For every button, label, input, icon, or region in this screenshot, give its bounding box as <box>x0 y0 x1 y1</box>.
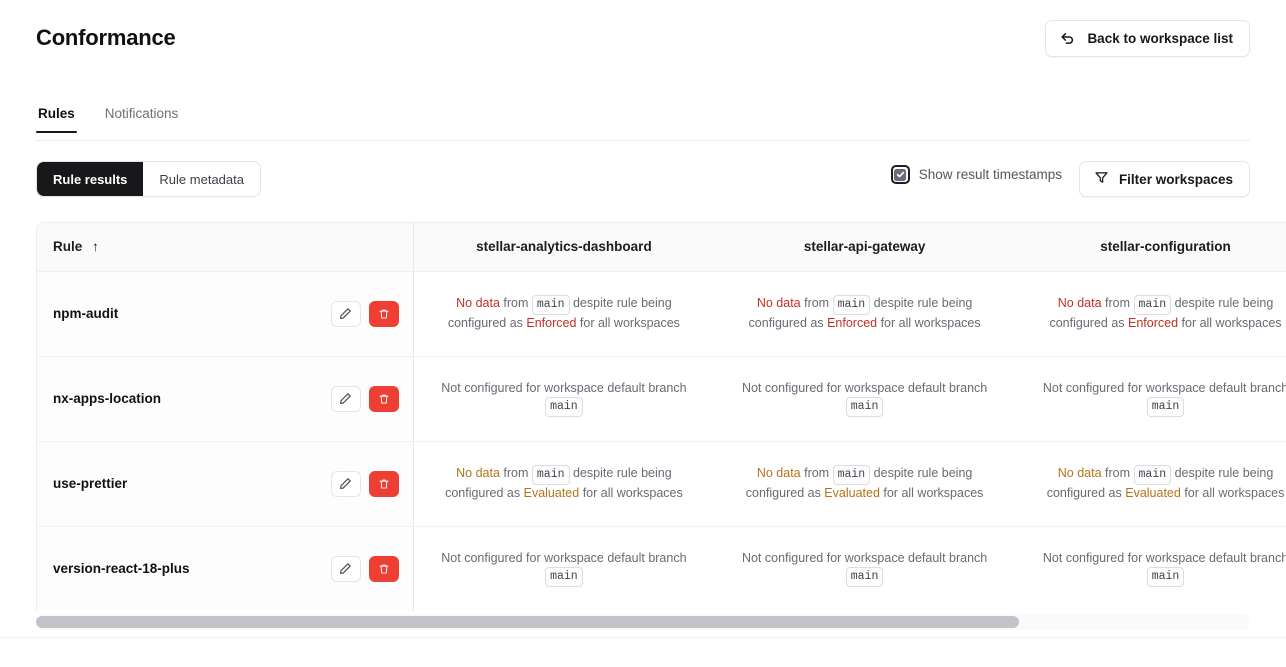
table-toolbar: Rule results Rule metadata Show result t… <box>36 161 1250 197</box>
rule-name: npm-audit <box>53 306 118 321</box>
edit-rule-button[interactable] <box>331 471 361 497</box>
table-row: use-prettierNo data from main despite ru… <box>37 441 1286 526</box>
column-header-workspace-1[interactable]: stellar-analytics-dashboard <box>413 223 714 271</box>
checkbox-check-icon <box>894 169 906 181</box>
horizontal-scrollbar-track[interactable] <box>36 614 1250 630</box>
back-button-label: Back to workspace list <box>1087 31 1233 46</box>
tab-rules[interactable]: Rules <box>36 106 77 132</box>
status-mode: Enforced <box>827 316 877 330</box>
rule-actions <box>331 301 399 327</box>
status-mode: Enforced <box>1128 316 1178 330</box>
status-mode: Enforced <box>526 316 576 330</box>
rule-actions <box>331 471 399 497</box>
status-text: for all workspaces <box>1178 316 1282 330</box>
segment-rule-metadata[interactable]: Rule metadata <box>143 162 260 196</box>
filter-workspaces-button[interactable]: Filter workspaces <box>1079 161 1250 197</box>
table-row: version-react-18-plusNot configured for … <box>37 526 1286 611</box>
status-lead: No data <box>757 296 801 310</box>
sort-ascending-icon: ↑ <box>92 239 99 254</box>
status-lead: No data <box>456 466 500 480</box>
branch-chip: main <box>1134 295 1172 315</box>
rules-table: Rule ↑ stellar-analytics-dashboard stell… <box>37 223 1286 611</box>
page-header: Conformance Back to workspace list <box>0 0 1286 78</box>
tab-bar: Rules Notifications <box>36 106 1250 141</box>
status-mode: Evaluated <box>1125 486 1181 500</box>
status-lead: No data <box>1058 466 1102 480</box>
rule-cell: npm-audit <box>37 271 413 356</box>
branch-chip: main <box>545 397 583 417</box>
table-header: Rule ↑ stellar-analytics-dashboard stell… <box>37 223 1286 271</box>
status-lead: No data <box>757 466 801 480</box>
rule-name: version-react-18-plus <box>53 561 190 576</box>
delete-rule-button[interactable] <box>369 301 399 327</box>
edit-rule-button[interactable] <box>331 301 361 327</box>
table-body: npm-auditNo data from main despite rule … <box>37 271 1286 611</box>
status-text: from <box>500 466 532 480</box>
result-cell: Not configured for workspace default bra… <box>1015 526 1286 611</box>
conformance-page: Conformance Back to workspace list Rules… <box>0 0 1286 667</box>
status-text: Not configured for workspace default bra… <box>441 381 686 395</box>
filter-workspaces-label: Filter workspaces <box>1119 172 1233 187</box>
show-result-timestamps-toggle[interactable]: Show result timestamps <box>891 165 1062 184</box>
branch-chip: main <box>1134 465 1172 485</box>
column-header-workspace-3[interactable]: stellar-configuration <box>1015 223 1286 271</box>
branch-chip: main <box>833 295 871 315</box>
status-text: Not configured for workspace default bra… <box>1043 381 1286 395</box>
result-cell: No data from main despite rule being con… <box>714 271 1015 356</box>
segment-rule-results[interactable]: Rule results <box>37 162 143 196</box>
result-cell: Not configured for workspace default bra… <box>413 356 714 441</box>
result-cell: Not configured for workspace default bra… <box>714 356 1015 441</box>
rule-name: use-prettier <box>53 476 127 491</box>
status-mode: Evaluated <box>524 486 580 500</box>
rule-actions <box>331 556 399 582</box>
show-timestamps-checkbox[interactable] <box>891 165 910 184</box>
branch-chip: main <box>1147 397 1185 417</box>
status-text: for all workspaces <box>576 316 680 330</box>
column-header-workspace-2[interactable]: stellar-api-gateway <box>714 223 1015 271</box>
horizontal-scrollbar-thumb[interactable] <box>36 616 1019 628</box>
rule-cell: nx-apps-location <box>37 356 413 441</box>
rule-name: nx-apps-location <box>53 391 161 406</box>
table-header-row: Rule ↑ stellar-analytics-dashboard stell… <box>37 223 1286 271</box>
result-cell: No data from main despite rule being con… <box>413 441 714 526</box>
delete-rule-button[interactable] <box>369 471 399 497</box>
funnel-icon <box>1094 170 1109 188</box>
status-text: Not configured for workspace default bra… <box>742 551 987 565</box>
branch-chip: main <box>846 567 884 587</box>
result-cell: No data from main despite rule being con… <box>1015 271 1286 356</box>
view-mode-segmented-control: Rule results Rule metadata <box>36 161 261 197</box>
back-to-workspace-list-button[interactable]: Back to workspace list <box>1045 20 1250 57</box>
status-text: from <box>1102 466 1134 480</box>
tab-notifications[interactable]: Notifications <box>103 106 181 132</box>
status-text: for all workspaces <box>877 316 981 330</box>
result-cell: Not configured for workspace default bra… <box>714 526 1015 611</box>
edit-rule-button[interactable] <box>331 556 361 582</box>
status-text: from <box>500 296 532 310</box>
branch-chip: main <box>532 295 570 315</box>
bottom-divider <box>0 637 1286 638</box>
branch-chip: main <box>833 465 871 485</box>
result-cell: Not configured for workspace default bra… <box>1015 356 1286 441</box>
column-header-rule[interactable]: Rule ↑ <box>37 223 413 271</box>
rule-actions <box>331 386 399 412</box>
result-cell: No data from main despite rule being con… <box>714 441 1015 526</box>
result-cell: No data from main despite rule being con… <box>413 271 714 356</box>
branch-chip: main <box>846 397 884 417</box>
status-text: Not configured for workspace default bra… <box>742 381 987 395</box>
rules-table-container: Rule ↑ stellar-analytics-dashboard stell… <box>36 222 1286 611</box>
edit-rule-button[interactable] <box>331 386 361 412</box>
table-row: nx-apps-locationNot configured for works… <box>37 356 1286 441</box>
status-text: for all workspaces <box>1181 486 1285 500</box>
status-text: for all workspaces <box>579 486 683 500</box>
status-lead: No data <box>456 296 500 310</box>
status-text: from <box>801 296 833 310</box>
branch-chip: main <box>532 465 570 485</box>
page-title: Conformance <box>36 25 176 51</box>
rule-cell: use-prettier <box>37 441 413 526</box>
status-lead: No data <box>1058 296 1102 310</box>
status-text: from <box>801 466 833 480</box>
branch-chip: main <box>545 567 583 587</box>
status-text: for all workspaces <box>880 486 984 500</box>
status-text: from <box>1102 296 1134 310</box>
rule-cell: version-react-18-plus <box>37 526 413 611</box>
show-timestamps-label: Show result timestamps <box>919 167 1062 182</box>
status-text: Not configured for workspace default bra… <box>1043 551 1286 565</box>
delete-rule-button[interactable] <box>369 556 399 582</box>
status-text: Not configured for workspace default bra… <box>441 551 686 565</box>
result-cell: Not configured for workspace default bra… <box>413 526 714 611</box>
result-cell: No data from main despite rule being con… <box>1015 441 1286 526</box>
branch-chip: main <box>1147 567 1185 587</box>
status-mode: Evaluated <box>824 486 880 500</box>
delete-rule-button[interactable] <box>369 386 399 412</box>
rule-column-label: Rule <box>53 239 82 254</box>
back-arrow-icon <box>1059 30 1076 47</box>
table-row: npm-auditNo data from main despite rule … <box>37 271 1286 356</box>
